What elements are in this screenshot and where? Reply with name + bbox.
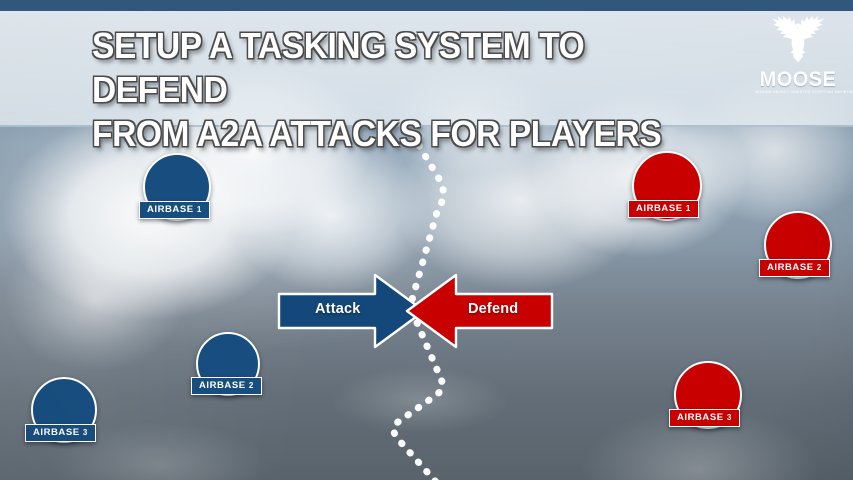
airbase-label: AIRBASE 3 bbox=[25, 424, 96, 442]
airbase-label-number: 3 bbox=[83, 428, 88, 437]
airbase-blue-3[interactable]: AIRBASE 3 bbox=[31, 377, 97, 443]
airbase-label-text: AIRBASE bbox=[677, 412, 724, 423]
airbase-label: AIRBASE 1 bbox=[628, 200, 699, 218]
page-title: SETUP A TASKING SYSTEM TO DEFEND FROM A2… bbox=[92, 24, 687, 156]
airbase-red-1[interactable]: AIRBASE 1 bbox=[632, 151, 702, 221]
top-accent-bar bbox=[0, 0, 853, 11]
moose-logo[interactable]: MOOSE MISSION OBJECT ORIENTED SCRIPTING … bbox=[755, 16, 841, 100]
airbase-label: AIRBASE 2 bbox=[759, 259, 830, 277]
airbase-label-number: 2 bbox=[249, 381, 254, 390]
airbase-red-3[interactable]: AIRBASE 3 bbox=[674, 361, 742, 429]
airbase-label-text: AIRBASE bbox=[636, 203, 683, 214]
airbase-label-text: AIRBASE bbox=[147, 204, 194, 215]
airbase-label-number: 1 bbox=[197, 205, 202, 214]
airbase-label: AIRBASE 1 bbox=[139, 201, 210, 219]
airbase-label: AIRBASE 2 bbox=[191, 377, 262, 395]
defend-arrow[interactable]: Defend bbox=[404, 272, 554, 350]
airbase-label-text: AIRBASE bbox=[767, 262, 814, 273]
airbase-label: AIRBASE 3 bbox=[669, 409, 740, 427]
airbase-blue-2[interactable]: AIRBASE 2 bbox=[196, 332, 260, 396]
page-title-line2: FROM A2A ATTACKS FOR PLAYERS bbox=[92, 112, 687, 156]
slide-canvas: Attack Defend AIRBASE 1 AIRBASE 2 AIRBAS… bbox=[0, 0, 853, 480]
moose-wordmark: MOOSE bbox=[757, 69, 839, 90]
airbase-label-text: AIRBASE bbox=[199, 380, 246, 391]
airbase-label-number: 2 bbox=[817, 263, 822, 272]
airbase-blue-1[interactable]: AIRBASE 1 bbox=[143, 153, 211, 221]
moose-antlers-icon bbox=[761, 16, 835, 68]
page-title-line1: SETUP A TASKING SYSTEM TO DEFEND bbox=[92, 25, 584, 110]
airbase-label-number: 3 bbox=[727, 413, 732, 422]
defend-arrow-label: Defend bbox=[468, 301, 518, 317]
airbase-label-text: AIRBASE bbox=[33, 427, 80, 438]
attack-arrow-label: Attack bbox=[315, 301, 361, 317]
airbase-label-number: 1 bbox=[686, 204, 691, 213]
airbase-red-2[interactable]: AIRBASE 2 bbox=[764, 211, 832, 279]
